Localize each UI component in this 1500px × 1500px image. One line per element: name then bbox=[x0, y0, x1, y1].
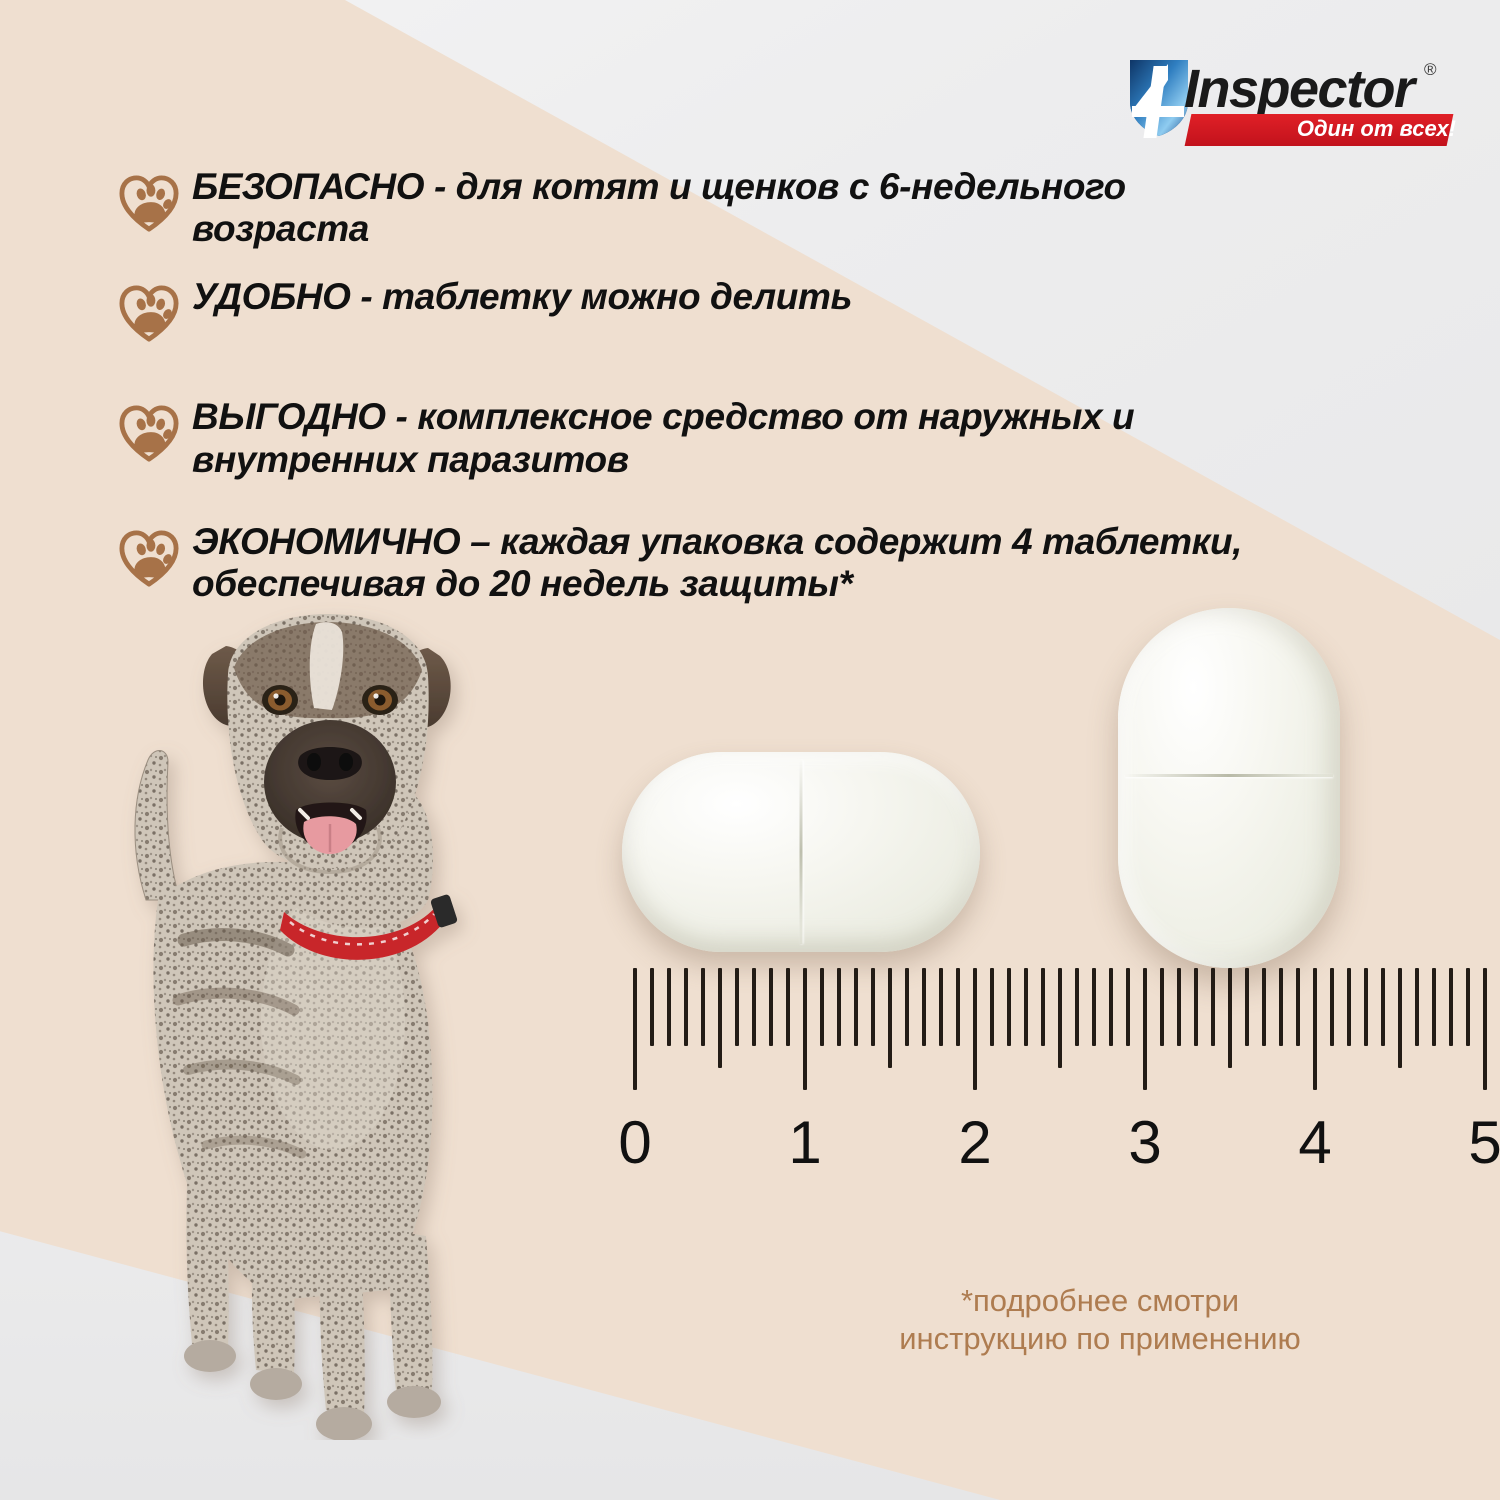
benefit-item-value: ВЫГОДНО - комплексное средство от наружн… bbox=[118, 396, 1288, 480]
ruler-label: 4 bbox=[1298, 1108, 1331, 1177]
ruler-tick-minor bbox=[701, 968, 705, 1046]
ruler-tick-minor bbox=[769, 968, 773, 1046]
oval-tablet-scored-icon bbox=[622, 752, 980, 952]
ruler-tick-minor bbox=[1449, 968, 1453, 1046]
ruler-tick-minor bbox=[752, 968, 756, 1046]
ruler-tick-minor bbox=[684, 968, 688, 1046]
ruler-label: 1 bbox=[788, 1108, 821, 1177]
ruler-tick-minor bbox=[956, 968, 960, 1046]
footnote-line-1: *подробнее смотри bbox=[760, 1282, 1440, 1320]
ruler-tick-minor bbox=[1330, 968, 1334, 1046]
ruler-tick-minor bbox=[990, 968, 994, 1046]
ruler-tick-minor bbox=[1109, 968, 1113, 1046]
ruler-tick-minor bbox=[837, 968, 841, 1046]
ruler-tick-minor bbox=[735, 968, 739, 1046]
ruler-tick-minor bbox=[1245, 968, 1249, 1046]
ruler-tick-minor bbox=[922, 968, 926, 1046]
ruler-tick-minor bbox=[1024, 968, 1028, 1046]
ruler-tick-major bbox=[803, 968, 807, 1090]
heart-paw-icon bbox=[118, 284, 180, 344]
ruler-tick-minor bbox=[1364, 968, 1368, 1046]
ruler-tick-minor bbox=[1279, 968, 1283, 1046]
ruler-tick-minor bbox=[1398, 968, 1402, 1068]
ruler-tick-minor bbox=[1415, 968, 1419, 1046]
ruler-tick-minor bbox=[1381, 968, 1385, 1046]
ruler-tick-minor bbox=[718, 968, 722, 1068]
heart-paw-icon bbox=[118, 529, 180, 589]
ruler-tick-minor bbox=[650, 968, 654, 1046]
ruler-tick-major bbox=[973, 968, 977, 1090]
ruler-tick-minor bbox=[1092, 968, 1096, 1046]
tablet-score-line bbox=[800, 760, 803, 944]
benefit-text: БЕЗОПАСНО - для котят и щенков с 6-недел… bbox=[192, 166, 1262, 250]
ruler-tick-major bbox=[1313, 968, 1317, 1090]
ruler-tick-major bbox=[633, 968, 637, 1090]
measurement-ruler: 012345 bbox=[600, 968, 1500, 1208]
ruler-tick-minor bbox=[905, 968, 909, 1046]
benefit-item-convenient: УДОБНО - таблетку можно делить bbox=[118, 276, 1288, 344]
ruler-tick-minor bbox=[667, 968, 671, 1046]
benefit-item-economical: ЭКОНОМИЧНО – каждая упаковка содержит 4 … bbox=[118, 521, 1288, 605]
ruler-label: 2 bbox=[958, 1108, 991, 1177]
ruler-tick-minor bbox=[1296, 968, 1300, 1046]
ruler-tick-minor bbox=[1228, 968, 1232, 1068]
ruler-tick-minor bbox=[1262, 968, 1266, 1046]
ruler-tick-minor bbox=[1432, 968, 1436, 1046]
ruler-tick-minor bbox=[786, 968, 790, 1046]
ruler-tick-minor bbox=[1466, 968, 1470, 1046]
ruler-label: 3 bbox=[1128, 1108, 1161, 1177]
footnote-line-2: инструкцию по применению bbox=[760, 1320, 1440, 1358]
ruler-tick-minor bbox=[1058, 968, 1062, 1068]
ruler-tick-minor bbox=[1126, 968, 1130, 1046]
ruler-tick-minor bbox=[888, 968, 892, 1068]
ruler-tick-major bbox=[1483, 968, 1487, 1090]
brand-logo: Inspector ® Один от всех! bbox=[1128, 52, 1458, 152]
ruler-label: 5 bbox=[1468, 1108, 1500, 1177]
ruler-tick-minor bbox=[871, 968, 875, 1046]
benefit-text: ВЫГОДНО - комплексное средство от наружн… bbox=[192, 396, 1262, 480]
ruler-tick-minor bbox=[939, 968, 943, 1046]
logo-tagline: Один от всех! bbox=[1246, 116, 1456, 142]
ruler-tick-major bbox=[1143, 968, 1147, 1090]
dog-photo bbox=[88, 600, 508, 1440]
logo-wordmark: Inspector bbox=[1184, 58, 1414, 120]
ruler-tick-minor bbox=[1041, 968, 1045, 1046]
ruler-tick-minor bbox=[1160, 968, 1164, 1046]
ruler-tick-minor bbox=[1347, 968, 1351, 1046]
shield-with-4-icon bbox=[1128, 56, 1190, 138]
tablet-score-line bbox=[1125, 774, 1334, 777]
benefits-list: БЕЗОПАСНО - для котят и щенков с 6-недел… bbox=[118, 166, 1288, 639]
benefit-text: УДОБНО - таблетку можно делить bbox=[192, 276, 852, 318]
ruler-tick-minor bbox=[1007, 968, 1011, 1046]
heart-paw-icon bbox=[118, 174, 180, 234]
heart-paw-icon bbox=[118, 404, 180, 464]
ruler-tick-minor bbox=[1194, 968, 1198, 1046]
registered-trademark-icon: ® bbox=[1424, 60, 1437, 80]
ruler-tick-minor bbox=[1177, 968, 1181, 1046]
benefit-item-safe: БЕЗОПАСНО - для котят и щенков с 6-недел… bbox=[118, 166, 1288, 250]
ruler-tick-minor bbox=[820, 968, 824, 1046]
ruler-tick-minor bbox=[1075, 968, 1079, 1046]
ruler-tick-minor bbox=[854, 968, 858, 1046]
ruler-tick-minor bbox=[1211, 968, 1215, 1046]
ruler-label: 0 bbox=[618, 1108, 651, 1177]
capsule-tablet-scored-icon bbox=[1118, 608, 1340, 968]
benefit-text: ЭКОНОМИЧНО – каждая упаковка содержит 4 … bbox=[192, 521, 1262, 605]
advertisement-page: Inspector ® Один от всех! БЕЗОПАСНО - дл… bbox=[0, 0, 1500, 1500]
footnote: *подробнее смотри инструкцию по применен… bbox=[760, 1282, 1440, 1358]
